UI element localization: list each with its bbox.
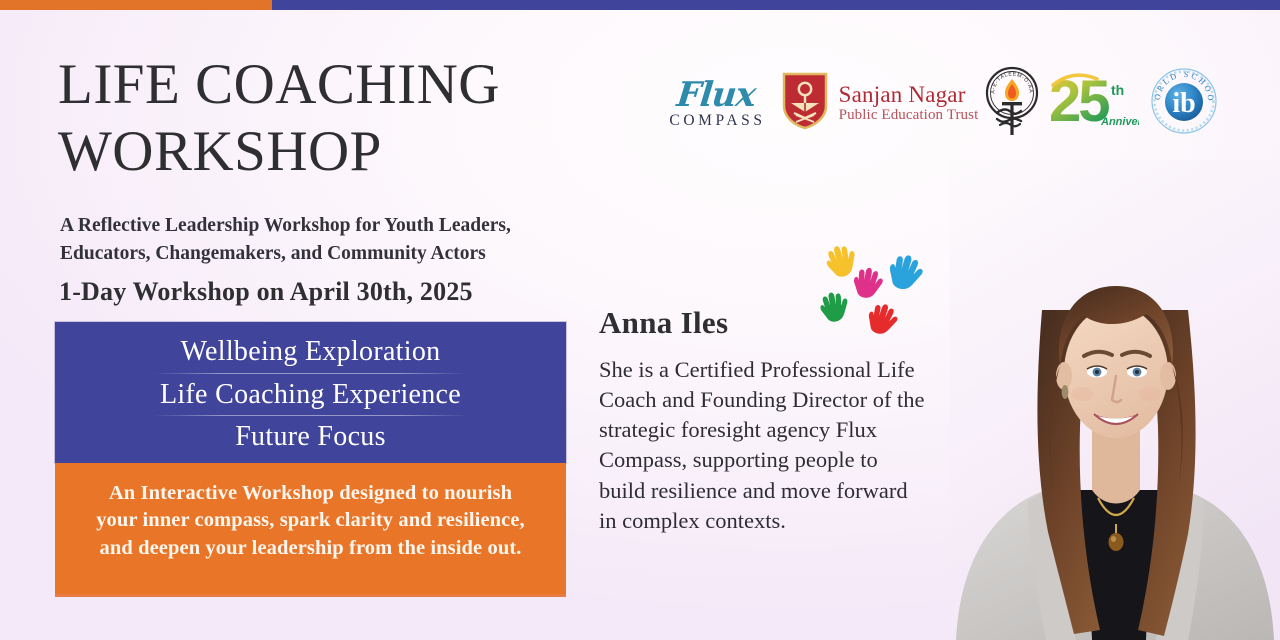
speaker-bio: She is a Certified Professional Life Coa… xyxy=(599,355,929,536)
flux-compass-submark: COMPASS xyxy=(666,113,765,129)
top-accent-bar-orange-segment xyxy=(0,0,272,10)
anniversary-ordinal: th xyxy=(1111,82,1124,98)
sanjan-nagar-name-line1: Sanjan Nagar xyxy=(839,82,979,108)
hand-red xyxy=(865,301,901,338)
page-subtitle: A Reflective Leadership Workshop for You… xyxy=(60,212,600,267)
flux-compass-wordmark: Flux xyxy=(675,78,757,112)
anniversary-word: Anniversary xyxy=(1100,116,1139,128)
speaker-photo xyxy=(950,160,1280,640)
topic-item: Future Focus xyxy=(55,416,566,459)
hand-green xyxy=(818,290,851,324)
event-date: 1-Day Workshop on April 30th, 2025 xyxy=(59,276,599,307)
hand-blue xyxy=(886,252,926,293)
bottom-divider-rule xyxy=(55,594,566,597)
ib-world-school-icon: WORLD SCHOOL ib xyxy=(1149,66,1219,141)
partner-logo-row: Flux COMPASS Sanjan Nagar Public Educati… xyxy=(652,57,1228,149)
top-accent-bar-blue-segment xyxy=(272,0,1280,10)
ib-wordmark: ib xyxy=(1172,88,1195,119)
description-panel: An Interactive Workshop designed to nour… xyxy=(55,463,566,595)
page-title: LIFE COACHING WORKSHOP xyxy=(58,52,658,185)
flyer-canvas: LIFE COACHING WORKSHOP A Reflective Lead… xyxy=(0,0,1280,640)
sanjan-nagar-name-line2: Public Education Trust xyxy=(839,107,979,124)
logo-sanjan-nagar: Sanjan Nagar Public Education Trust xyxy=(780,57,980,149)
topic-item: Wellbeing Exploration xyxy=(55,331,566,374)
hand-pink xyxy=(852,266,885,300)
sanjan-nagar-crest-icon xyxy=(782,72,828,135)
logo-flux-compass: Flux COMPASS xyxy=(652,57,780,149)
topic-item: Life Coaching Experience xyxy=(55,374,566,417)
hand-yellow xyxy=(823,242,861,281)
description-text: An Interactive Workshop designed to nour… xyxy=(89,480,532,562)
idara-seal-icon: IDARA-E-TALEEM-O-AAGAHI xyxy=(981,59,1043,148)
logo-25th-anniversary: 25 th Anniversary xyxy=(1044,57,1140,149)
logo-ib-world-school: WORLD SCHOOL ib xyxy=(1140,57,1228,149)
decorative-hands-cluster xyxy=(806,241,938,341)
topics-panel: Wellbeing Exploration Life Coaching Expe… xyxy=(55,322,566,463)
speaker-name: Anna Iles xyxy=(599,306,728,340)
logo-idara-e-taleem-o-aagahi: IDARA-E-TALEEM-O-AAGAHI xyxy=(980,57,1044,149)
top-accent-bar xyxy=(0,0,1280,10)
anniversary-mark-icon: 25 th Anniversary xyxy=(1045,63,1139,144)
